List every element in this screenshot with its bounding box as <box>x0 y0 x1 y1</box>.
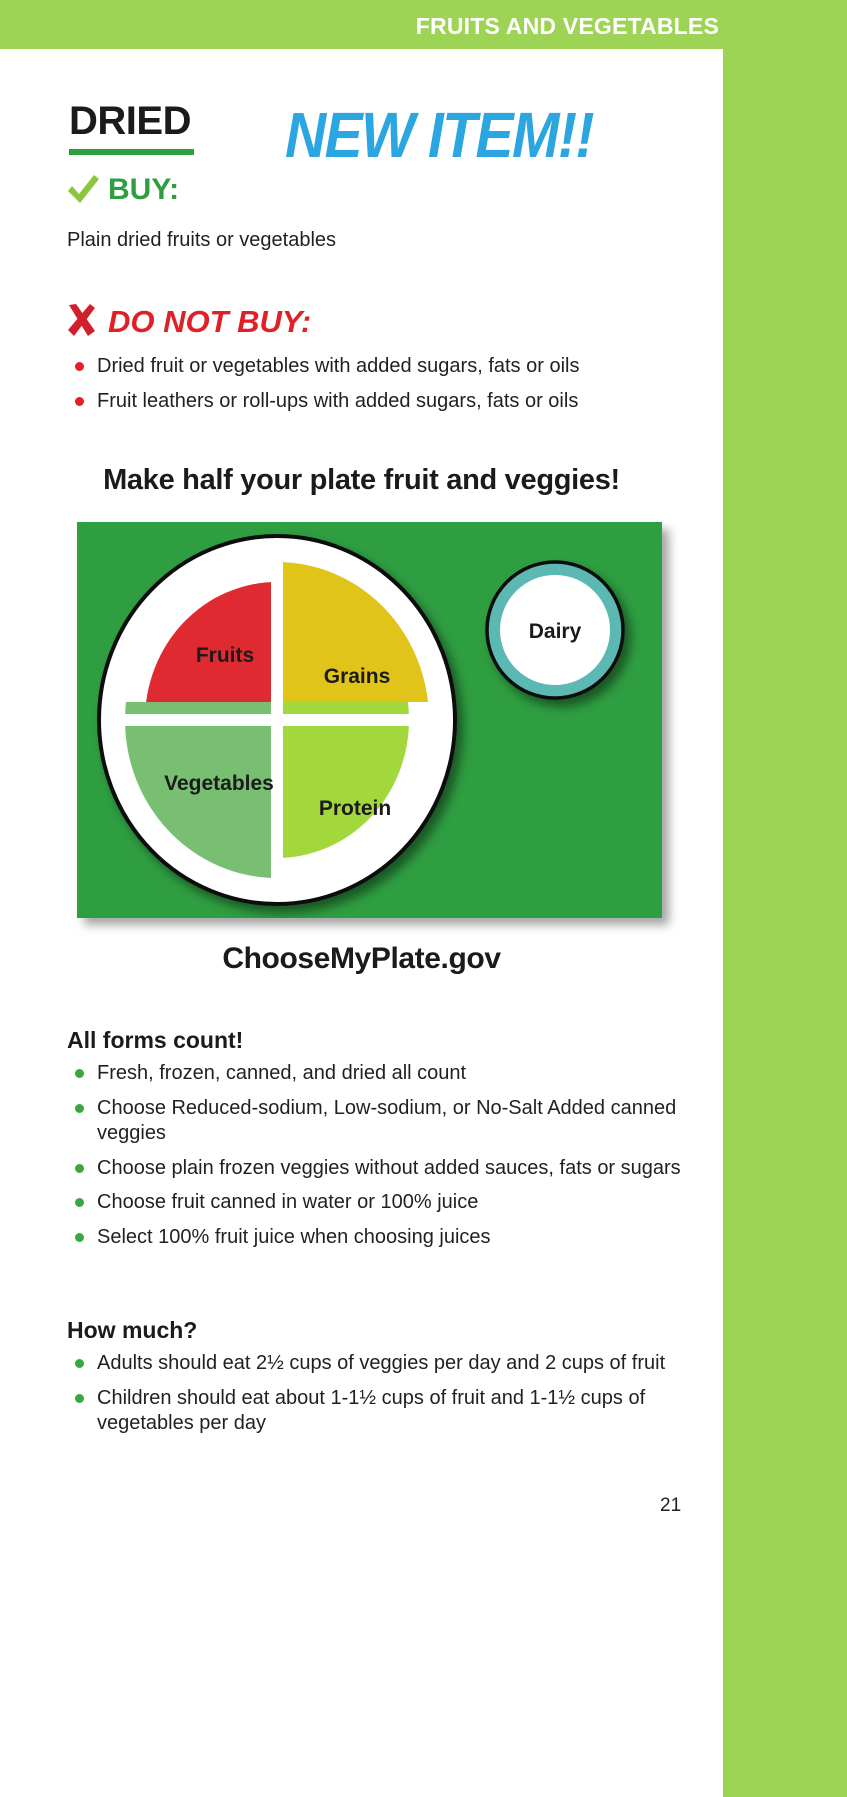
how-much-heading: How much? <box>67 1317 197 1344</box>
myplate-caption: ChooseMyPlate.gov <box>0 942 723 976</box>
segment-label-protein: Protein <box>319 797 391 820</box>
list-item: Fruit leathers or roll-ups with added su… <box>66 389 706 415</box>
header-title: FRUITS AND VEGETABLES <box>416 13 719 40</box>
how-much-list: Adults should eat 2½ cups of veggies per… <box>66 1351 711 1446</box>
segment-label-dairy: Dairy <box>529 620 582 643</box>
myplate-svg: Fruits Grains Vegetables Protein Dairy <box>77 522 662 918</box>
page-content: DRIED NEW ITEM!! BUY: Plain dried fruits… <box>0 49 723 1797</box>
all-forms-heading: All forms count! <box>67 1027 243 1054</box>
list-item: Choose plain frozen veggies without adde… <box>66 1156 711 1182</box>
list-item: Adults should eat 2½ cups of veggies per… <box>66 1351 711 1377</box>
new-item-badge: NEW ITEM!! <box>285 99 593 173</box>
buy-heading-row: BUY: <box>66 174 179 206</box>
list-item: Choose fruit canned in water or 100% jui… <box>66 1190 711 1216</box>
list-item: Select 100% fruit juice when choosing ju… <box>66 1225 711 1251</box>
page-number: 21 <box>660 1495 681 1517</box>
all-forms-list: Fresh, frozen, canned, and dried all cou… <box>66 1061 711 1260</box>
myplate-heading: Make half your plate fruit and veggies! <box>0 464 723 497</box>
right-edge-strip <box>723 49 847 1797</box>
segment-label-fruits: Fruits <box>196 644 254 667</box>
list-item: Dried fruit or vegetables with added sug… <box>66 354 706 380</box>
do-not-buy-list: Dried fruit or vegetables with added sug… <box>66 354 706 423</box>
list-item: Fresh, frozen, canned, and dried all cou… <box>66 1061 711 1087</box>
header-band: FRUITS AND VEGETABLES <box>0 0 847 49</box>
do-not-buy-heading-row: DO NOT BUY: <box>66 304 311 338</box>
brochure-page: FRUITS AND VEGETABLES DRIED NEW ITEM!! B… <box>0 0 847 1797</box>
title-underline-rule <box>69 149 194 155</box>
check-icon <box>66 174 100 206</box>
list-item: Choose Reduced-sodium, Low-sodium, or No… <box>66 1096 711 1147</box>
do-not-buy-label: DO NOT BUY: <box>108 306 311 337</box>
x-icon <box>66 304 98 338</box>
buy-label: BUY: <box>108 175 179 205</box>
list-item: Children should eat about 1-1½ cups of f… <box>66 1386 711 1437</box>
page-title: DRIED <box>69 99 191 144</box>
myplate-graphic: Fruits Grains Vegetables Protein Dairy <box>77 522 662 918</box>
segment-label-grains: Grains <box>324 665 391 688</box>
buy-text: Plain dried fruits or vegetables <box>67 229 336 252</box>
segment-label-vegetables: Vegetables <box>164 772 274 795</box>
